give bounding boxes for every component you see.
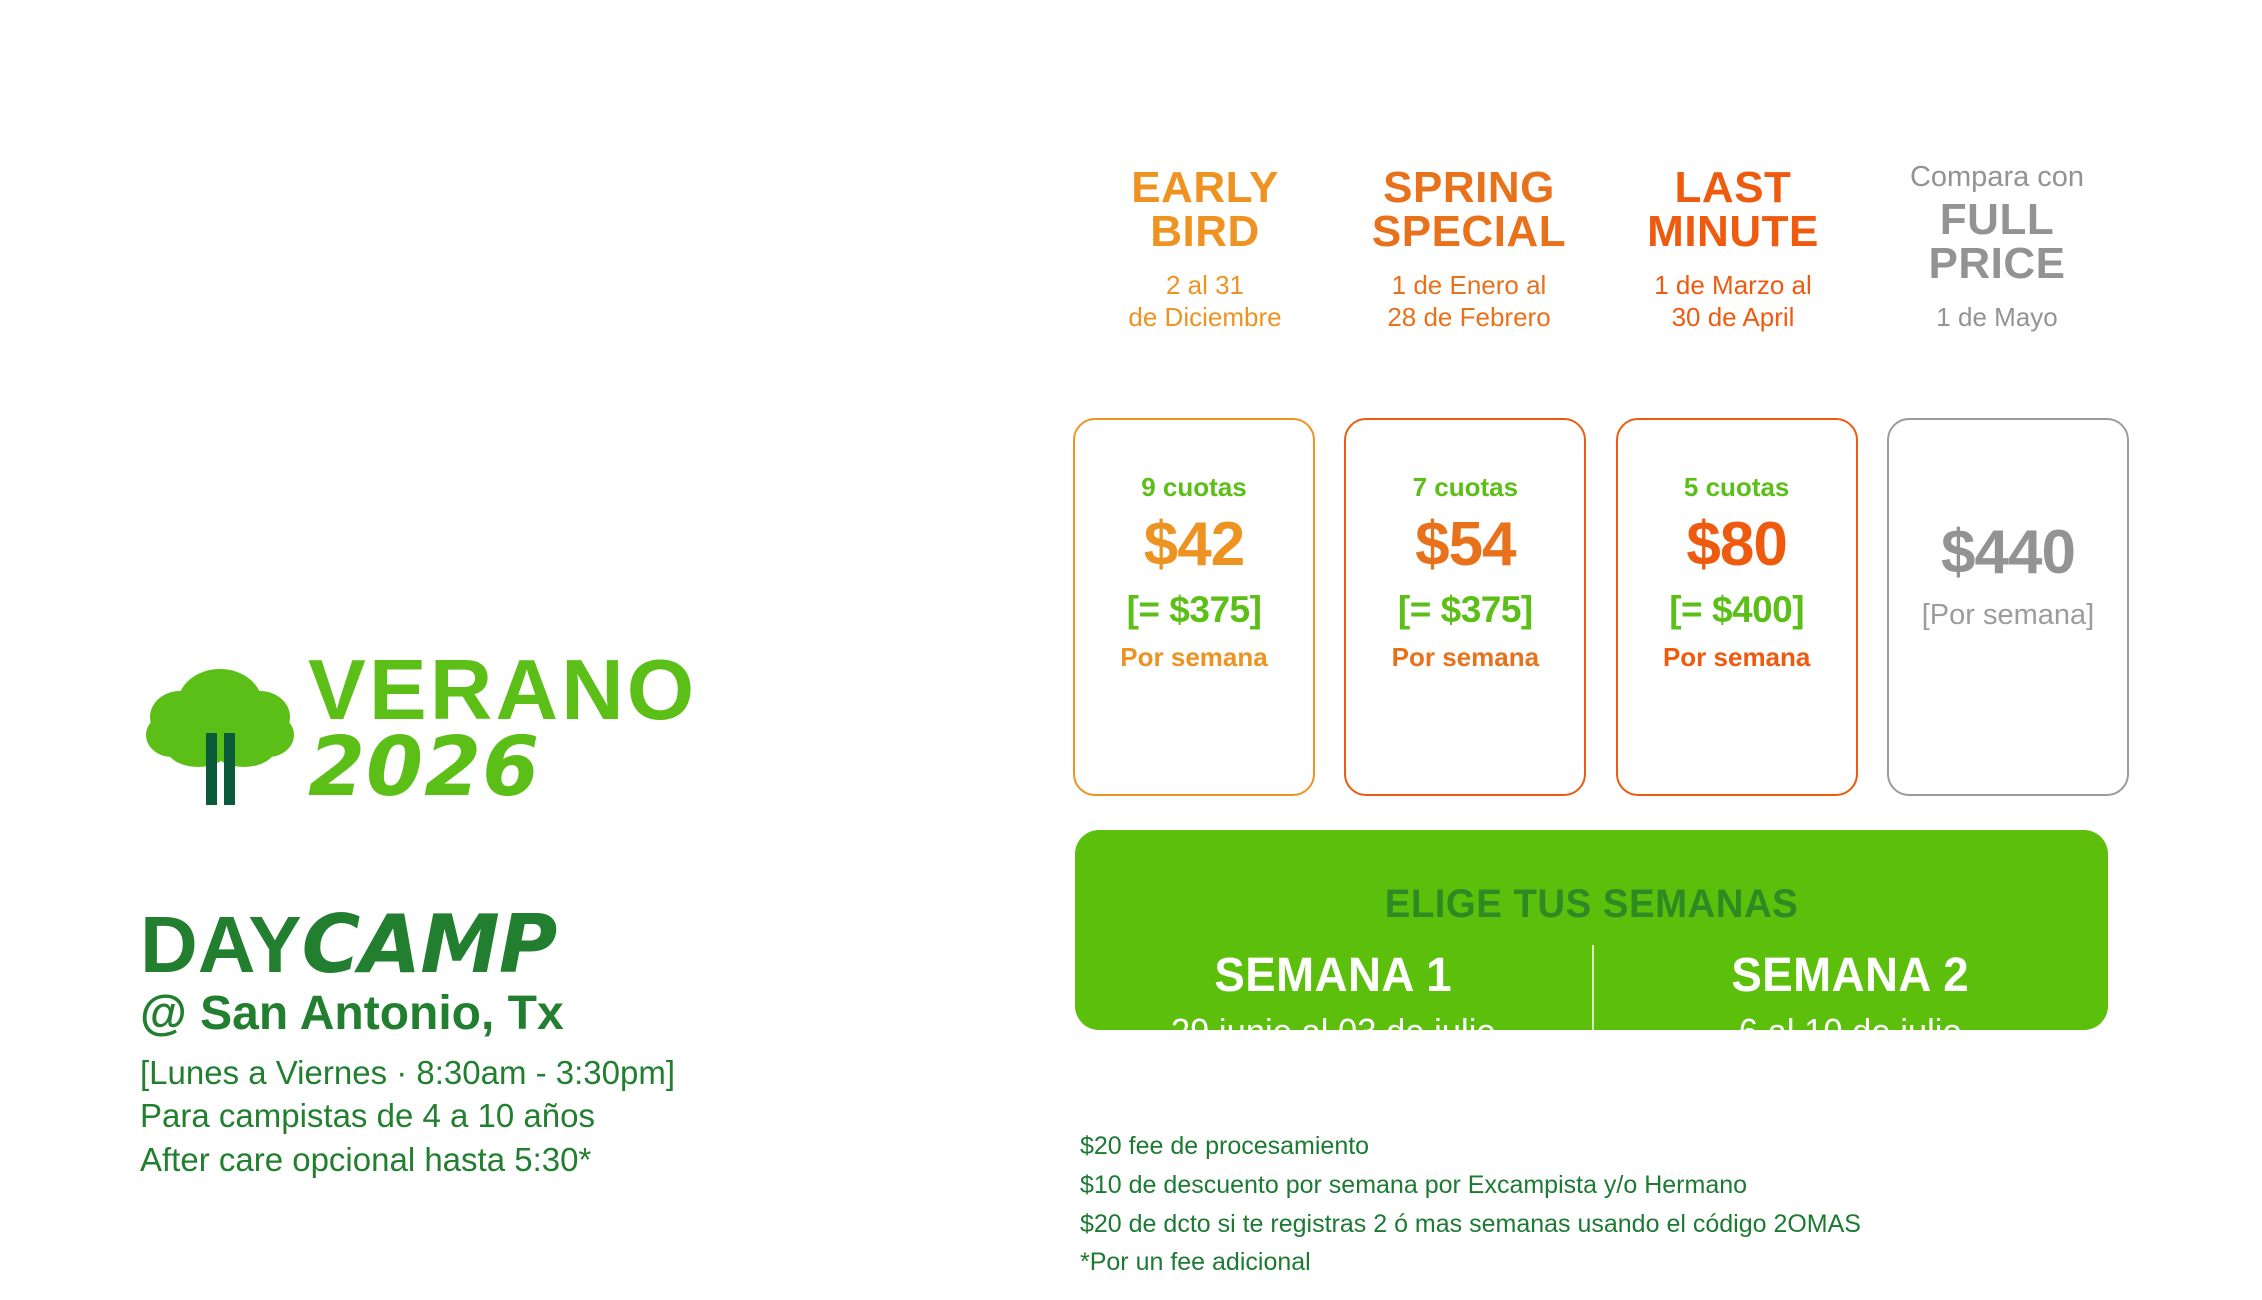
page-title: DAYCAMP	[140, 905, 860, 985]
camp-location: @ San Antonio, Tx	[140, 987, 860, 1041]
full-price-amount: $440	[1889, 518, 2127, 587]
logo-year: 2026	[308, 726, 708, 810]
total-amount: [= $400]	[1618, 591, 1856, 628]
deal-name-line2: PRICE	[1871, 242, 2123, 286]
price-card-early-bird[interactable]: 9 cuotas $42 [= $375] Por semana	[1073, 418, 1315, 796]
per-unit-label: [Por semana]	[1889, 601, 2127, 630]
deal-dates-line2: 28 de Febrero	[1343, 302, 1595, 334]
week-1-name: SEMANA 1	[1088, 952, 1579, 1000]
footnote-multiweek-discount: $20 de dcto si te registras 2 ó mas sema…	[1080, 1205, 2180, 1244]
pricing-header-spring-special: SPRING SPECIAL 1 de Enero al 28 de Febre…	[1337, 160, 1601, 333]
pricing-headers: EARLY BIRD 2 al 31 de Diciembre SPRING S…	[1073, 160, 2129, 333]
price-card-spring-special[interactable]: 7 cuotas $54 [= $375] Por semana	[1344, 418, 1586, 796]
deal-dates-early-bird: 2 al 31 de Diciembre	[1079, 270, 1331, 333]
camp-detail-hours: [Lunes a Viernes · 8:30am - 3:30pm]	[140, 1051, 860, 1095]
weeks-banner-title: ELIGE TUS SEMANAS	[1096, 830, 2088, 924]
installment-amount: $54	[1346, 510, 1584, 579]
installments-label: 7 cuotas	[1346, 474, 1584, 500]
deal-dates-line2: 30 de April	[1607, 302, 1859, 334]
camp-details: [Lunes a Viernes · 8:30am - 3:30pm] Para…	[140, 1051, 860, 1182]
total-amount: [= $375]	[1075, 591, 1313, 628]
deal-name-line2: BIRD	[1079, 210, 1331, 254]
installment-amount: $42	[1075, 510, 1313, 579]
pricing-header-full-price: Compara con FULL PRICE 1 de Mayo	[1865, 163, 2129, 334]
deal-name-spring-special: SPRING SPECIAL	[1343, 166, 1595, 254]
deal-dates-line1: 1 de Marzo al	[1607, 270, 1859, 302]
pre-label-full-price: Compara con	[1871, 163, 2123, 192]
pricing-header-early-bird: EARLY BIRD 2 al 31 de Diciembre	[1073, 160, 1337, 333]
footnote-additional-fee: *Por un fee adicional	[1080, 1243, 2180, 1282]
installments-label: 5 cuotas	[1618, 474, 1856, 500]
camp-title-block: DAYCAMP @ San Antonio, Tx [Lunes a Viern…	[140, 905, 860, 1181]
footnote-processing-fee: $20 fee de procesamiento	[1080, 1127, 2180, 1166]
weeks-divider	[1592, 945, 1594, 1065]
total-amount: [= $375]	[1346, 591, 1584, 628]
branding-panel: VERANO 2026 DAYCAMP @ San Antonio, Tx [L…	[0, 0, 1060, 1300]
installments-label: 9 cuotas	[1075, 474, 1313, 500]
per-unit-label: Por semana	[1618, 644, 1856, 670]
week-2-name: SEMANA 2	[1604, 952, 2095, 1000]
pricing-panel: EARLY BIRD 2 al 31 de Diciembre SPRING S…	[1060, 0, 2262, 1300]
deal-name-full-price: FULL PRICE	[1871, 198, 2123, 286]
weeks-selection-banner: ELIGE TUS SEMANAS SEMANA 1 29 junio al 0…	[1075, 830, 2108, 1030]
deal-dates-line1: 1 de Enero al	[1343, 270, 1595, 302]
footnotes: $20 fee de procesamiento $10 de descuent…	[1080, 1127, 2180, 1282]
camp-detail-ages: Para campistas de 4 a 10 años	[140, 1094, 860, 1138]
price-card-full-price[interactable]: $440 [Por semana]	[1887, 418, 2129, 796]
camp-detail-aftercare: After care opcional hasta 5:30*	[140, 1138, 860, 1182]
deal-name-early-bird: EARLY BIRD	[1079, 166, 1331, 254]
tree-icon	[140, 655, 300, 815]
logo-wordmark: VERANO	[308, 651, 716, 732]
deal-name-line1: LAST	[1607, 166, 1859, 210]
deal-name-line1: SPRING	[1343, 166, 1595, 210]
week-1-dates: 29 junio al 03 de julio	[1085, 1014, 1581, 1050]
pricing-header-last-minute: LAST MINUTE 1 de Marzo al 30 de April	[1601, 160, 1865, 333]
week-option-2[interactable]: SEMANA 2 6 al 10 de julio	[1592, 952, 2109, 1050]
deal-name-line1: FULL	[1871, 198, 2123, 242]
deal-dates-last-minute: 1 de Marzo al 30 de April	[1607, 270, 1859, 333]
deal-dates-line1: 1 de Mayo	[1871, 302, 2123, 334]
page-title-part-b: CAMP	[302, 898, 557, 991]
deal-dates-line1: 2 al 31	[1079, 270, 1331, 302]
installment-amount: $80	[1618, 510, 1856, 579]
deal-name-line2: MINUTE	[1607, 210, 1859, 254]
deal-dates-full-price: 1 de Mayo	[1871, 302, 2123, 334]
deal-dates-spring-special: 1 de Enero al 28 de Febrero	[1343, 270, 1595, 333]
deal-name-last-minute: LAST MINUTE	[1607, 166, 1859, 254]
footnote-returning-discount: $10 de descuento por semana por Excampis…	[1080, 1166, 2180, 1205]
deal-name-line2: SPECIAL	[1343, 210, 1595, 254]
pricing-cards: 9 cuotas $42 [= $375] Por semana 7 cuota…	[1073, 418, 2129, 796]
deal-dates-line2: de Diciembre	[1079, 302, 1331, 334]
week-option-1[interactable]: SEMANA 1 29 junio al 03 de julio	[1075, 952, 1592, 1050]
per-unit-label: Por semana	[1075, 644, 1313, 670]
week-2-dates: 6 al 10 de julio	[1602, 1014, 2098, 1050]
deal-name-line1: EARLY	[1079, 166, 1331, 210]
weeks-row: SEMANA 1 29 junio al 03 de julio SEMANA …	[1075, 952, 2108, 1050]
per-unit-label: Por semana	[1346, 644, 1584, 670]
price-card-last-minute[interactable]: 5 cuotas $80 [= $400] Por semana	[1616, 418, 1858, 796]
verano-logo: VERANO 2026	[140, 655, 720, 840]
page-title-part-a: DAY	[140, 900, 302, 989]
